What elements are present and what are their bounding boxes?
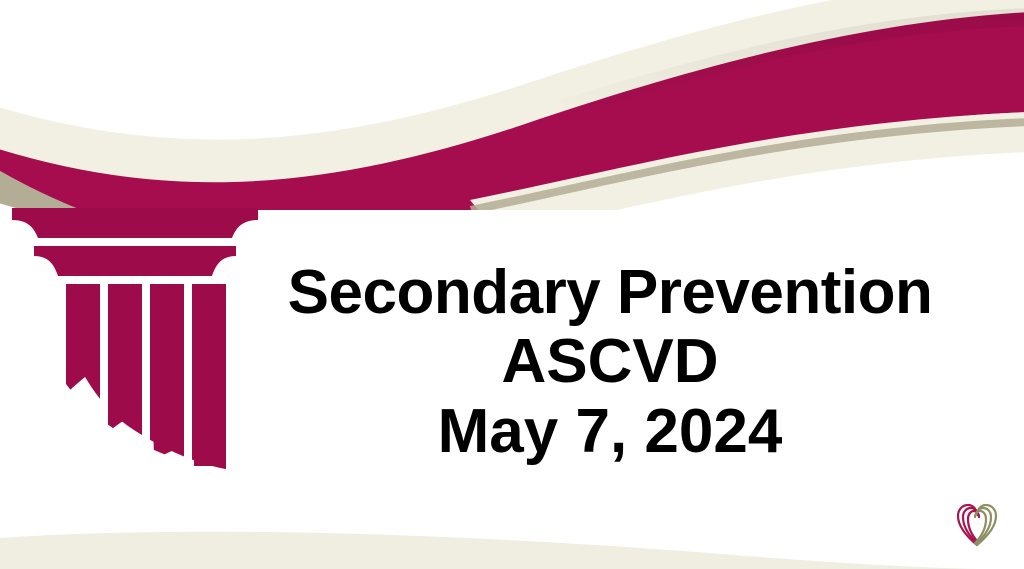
heart-left-strokes (958, 505, 979, 545)
column-logo: 1 (8, 198, 274, 470)
heart-right-strokes (975, 505, 996, 545)
title-line-subject: ASCVD (255, 327, 965, 396)
footer-curve (0, 532, 1024, 569)
title-line-topic: Secondary Prevention (255, 258, 965, 327)
presentation-slide: 1 Secondary Prevention ASCVD May 7, 2024 (0, 0, 1024, 569)
capital-upper-plate (12, 208, 258, 238)
column-pillar-icon (8, 198, 274, 470)
title-line-date: May 7, 2024 (255, 397, 965, 466)
interlocking-hearts-logo (955, 501, 999, 549)
heart-icon (955, 501, 999, 549)
bottom-cream-swoosh (0, 499, 1024, 569)
capital-lower-plate (34, 246, 236, 276)
decorative-ribbon-banner (0, 0, 1024, 210)
slide-title-block: Secondary Prevention ASCVD May 7, 2024 (255, 258, 965, 466)
